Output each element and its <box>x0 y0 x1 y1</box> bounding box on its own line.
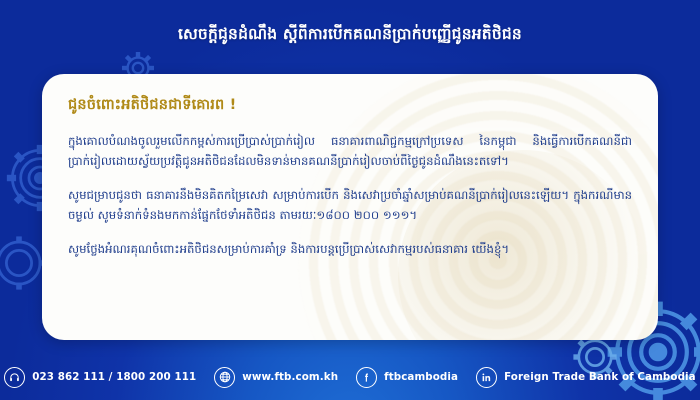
globe-icon <box>214 367 235 388</box>
footer-facebook-label: ftbcambodia <box>384 371 458 383</box>
footer-item-website[interactable]: www.ftb.com.kh <box>214 367 338 388</box>
footer-phone-label: 023 862 111 / 1800 200 111 <box>32 371 196 383</box>
headset-icon <box>4 367 25 388</box>
notice-paragraph-3: សូមថ្លែងអំណរគុណចំពោះអតិថិជនសម្រាប់ការគាំ… <box>68 239 632 259</box>
facebook-icon <box>356 367 377 388</box>
footer-item-phone[interactable]: 023 862 111 / 1800 200 111 <box>4 367 196 388</box>
notice-poster: សេចក្ដីជូនដំណឹង ស្ដីពីការបើកគណនីប្រាក់បញ… <box>0 0 700 400</box>
notice-card: ជូនចំពោះអតិថិជនជាទីគោរព ! ក្នុងគោលបំណងចូ… <box>42 74 658 340</box>
footer-item-facebook[interactable]: ftbcambodia <box>356 367 458 388</box>
page-title: សេចក្ដីជូនដំណឹង ស្ដីពីការបើកគណនីប្រាក់បញ… <box>178 24 522 47</box>
notice-paragraph-2: សូមជម្រាបជូនថា ធនាគារនឹងមិនគិតកម្រៃសេវា … <box>68 185 632 226</box>
notice-paragraph-1: ក្នុងគោលបំណងចូលរួមលើកកម្ពស់ការប្រើប្រាស់… <box>68 131 632 172</box>
greeting-text: ជូនចំពោះអតិថិជនជាទីគោរព ! <box>68 96 632 117</box>
contact-footer: 023 862 111 / 1800 200 111 www.ftb.com.k… <box>0 354 700 400</box>
poster-header: សេចក្ដីជូនដំណឹង ស្ដីពីការបើកគណនីប្រាក់បញ… <box>0 0 700 70</box>
footer-website-label: www.ftb.com.kh <box>242 371 338 383</box>
linkedin-icon <box>476 367 497 388</box>
footer-item-linkedin[interactable]: Foreign Trade Bank of Cambodia <box>476 367 696 388</box>
footer-linkedin-label: Foreign Trade Bank of Cambodia <box>504 371 696 383</box>
